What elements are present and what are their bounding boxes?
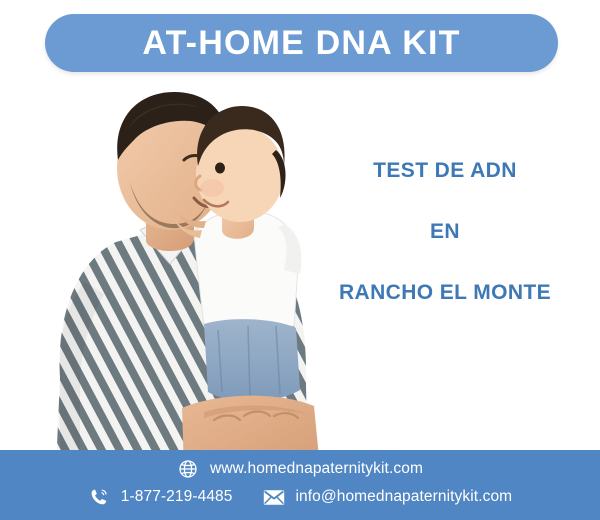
- headline-line-1: TEST DE ADN: [300, 160, 590, 181]
- footer-row-website: www.homednapaternitykit.com: [0, 458, 600, 480]
- header-band: AT-HOME DNA KIT: [0, 0, 600, 86]
- father-and-child-photo: [8, 78, 330, 468]
- page-title: AT-HOME DNA KIT: [142, 26, 460, 60]
- phone-icon: [88, 486, 110, 508]
- contact-footer: www.homednapaternitykit.com 1-877-219-44…: [0, 450, 600, 520]
- headline-block: TEST DE ADN EN RANCHO EL MONTE: [300, 160, 590, 303]
- phone-text: 1-877-219-4485: [121, 489, 233, 505]
- photo-illustration: [8, 78, 330, 468]
- envelope-icon: [263, 486, 285, 508]
- email-text: info@homednapaternitykit.com: [296, 489, 513, 505]
- poster-canvas: AT-HOME DNA KIT: [0, 0, 600, 520]
- phone-item[interactable]: 1-877-219-4485: [88, 486, 233, 508]
- globe-icon: [177, 458, 199, 480]
- footer-row-contact: 1-877-219-4485 info@homednapaternitykit.…: [0, 486, 600, 508]
- headline-line-2: EN: [300, 221, 590, 242]
- website-item[interactable]: www.homednapaternitykit.com: [177, 458, 423, 480]
- title-pill: AT-HOME DNA KIT: [45, 14, 558, 72]
- email-item[interactable]: info@homednapaternitykit.com: [263, 486, 513, 508]
- headline-line-3: RANCHO EL MONTE: [300, 282, 590, 303]
- website-text: www.homednapaternitykit.com: [210, 461, 423, 477]
